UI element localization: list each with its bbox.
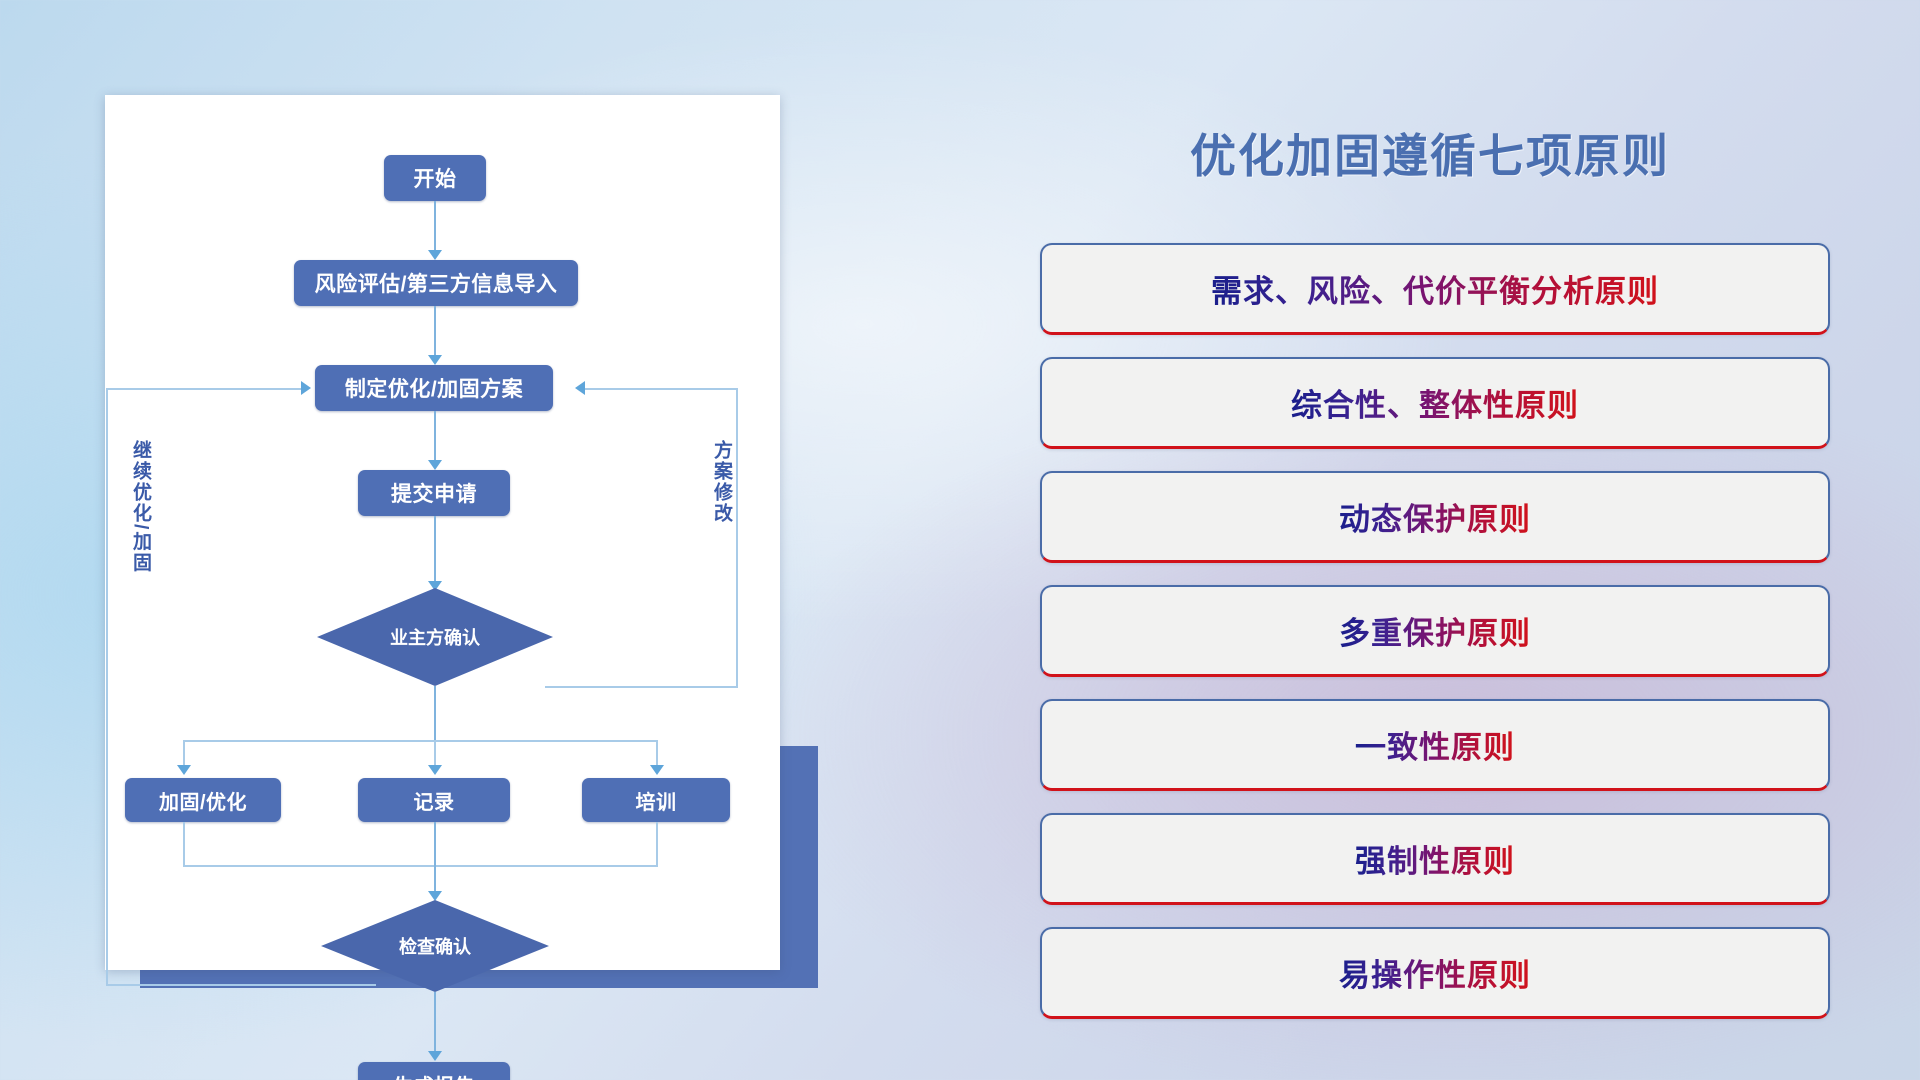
arrow-merge-to-check <box>428 891 442 901</box>
arrow-start-to-risk <box>428 250 442 260</box>
flow-node-start[interactable]: 开始 <box>384 155 486 201</box>
edge-split-bus <box>183 740 657 742</box>
flow-node-training-label: 培训 <box>636 786 677 815</box>
principle-label: 一致性原则 <box>1355 722 1515 767</box>
principle-item[interactable]: 动态保护原则 <box>1040 471 1830 563</box>
principle-label: 多重保护原则 <box>1339 608 1531 653</box>
edge-reinforce-down <box>183 822 185 867</box>
flow-node-submit-application-label: 提交申请 <box>391 478 477 508</box>
flow-node-risk-assessment[interactable]: 风险评估/第三方信息导入 <box>294 260 578 306</box>
flowchart: 开始 风险评估/第三方信息导入 制定优化/加固方案 继续优化/加固 方案修改 <box>105 95 780 970</box>
edge-label-plan-revision: 方案修改 <box>708 440 735 524</box>
flow-node-risk-assessment-label: 风险评估/第三方信息导入 <box>315 268 558 298</box>
principle-item[interactable]: 强制性原则 <box>1040 813 1830 905</box>
flow-node-owner-confirm-label: 业主方确认 <box>390 624 480 650</box>
edge-merge-to-check <box>434 822 436 894</box>
flow-node-reinforce-optimize-label: 加固/优化 <box>159 786 247 815</box>
edge-plan-to-submit <box>434 411 436 463</box>
edge-right-loop-vertical <box>736 388 738 688</box>
panel-title: 优化加固遵循七项原则 <box>1020 120 1840 186</box>
flow-node-record[interactable]: 记录 <box>358 778 510 822</box>
edge-right-loop-bottom <box>545 686 738 688</box>
principle-item[interactable]: 易操作性原则 <box>1040 927 1830 1019</box>
flow-node-submit-application[interactable]: 提交申请 <box>358 470 510 516</box>
principle-item[interactable]: 需求、风险、代价平衡分析原则 <box>1040 243 1830 335</box>
flow-node-generate-report[interactable]: 生成报告 <box>358 1062 510 1080</box>
principle-item[interactable]: 多重保护原则 <box>1040 585 1830 677</box>
flow-node-generate-report-label: 生成报告 <box>393 1070 475 1080</box>
edge-check-to-report <box>434 992 436 1054</box>
arrow-plan-to-submit <box>428 460 442 470</box>
arrow-left-loop-into-plan <box>301 381 311 395</box>
edge-merge-bus <box>183 865 657 867</box>
flow-node-owner-confirm[interactable]: 业主方确认 <box>317 588 553 686</box>
arrow-check-to-report <box>428 1051 442 1061</box>
edge-label-continue-optimize: 继续优化/加固 <box>127 440 154 573</box>
arrow-right-loop-into-plan <box>575 381 585 395</box>
flow-node-training[interactable]: 培训 <box>582 778 730 822</box>
edge-left-loop-vertical <box>106 388 108 986</box>
principle-label: 综合性、整体性原则 <box>1291 380 1579 425</box>
flowchart-card: 开始 风险评估/第三方信息导入 制定优化/加固方案 继续优化/加固 方案修改 <box>105 95 780 970</box>
edge-start-to-risk <box>434 201 436 253</box>
flow-node-make-plan-label: 制定优化/加固方案 <box>345 373 523 403</box>
edge-left-loop-bottom <box>106 984 376 986</box>
edge-right-loop-top <box>585 388 738 390</box>
flow-node-make-plan[interactable]: 制定优化/加固方案 <box>315 365 553 411</box>
edge-risk-to-plan <box>434 306 436 358</box>
edge-training-down <box>656 822 658 867</box>
flow-node-record-label: 记录 <box>414 786 455 815</box>
principle-item[interactable]: 一致性原则 <box>1040 699 1830 791</box>
principle-item[interactable]: 综合性、整体性原则 <box>1040 357 1830 449</box>
principle-label: 需求、风险、代价平衡分析原则 <box>1211 266 1659 311</box>
arrow-split-to-training <box>650 765 664 775</box>
edge-left-loop-top <box>106 388 302 390</box>
flow-node-check-confirm-label: 检查确认 <box>399 933 471 959</box>
principle-label: 强制性原则 <box>1355 836 1515 881</box>
edge-owner-down <box>434 686 436 741</box>
principles-list: 需求、风险、代价平衡分析原则 综合性、整体性原则 动态保护原则 多重保护原则 一… <box>1040 243 1830 1041</box>
principle-label: 易操作性原则 <box>1339 950 1531 995</box>
arrow-risk-to-plan <box>428 355 442 365</box>
principles-panel: 优化加固遵循七项原则 需求、风险、代价平衡分析原则 综合性、整体性原则 动态保护… <box>1020 95 1840 1015</box>
principle-label: 动态保护原则 <box>1339 494 1531 539</box>
arrow-split-to-reinforce <box>177 765 191 775</box>
flow-node-reinforce-optimize[interactable]: 加固/优化 <box>125 778 281 822</box>
arrow-split-to-record <box>428 765 442 775</box>
edge-submit-to-owner <box>434 516 436 584</box>
flow-node-start-label: 开始 <box>414 163 457 193</box>
